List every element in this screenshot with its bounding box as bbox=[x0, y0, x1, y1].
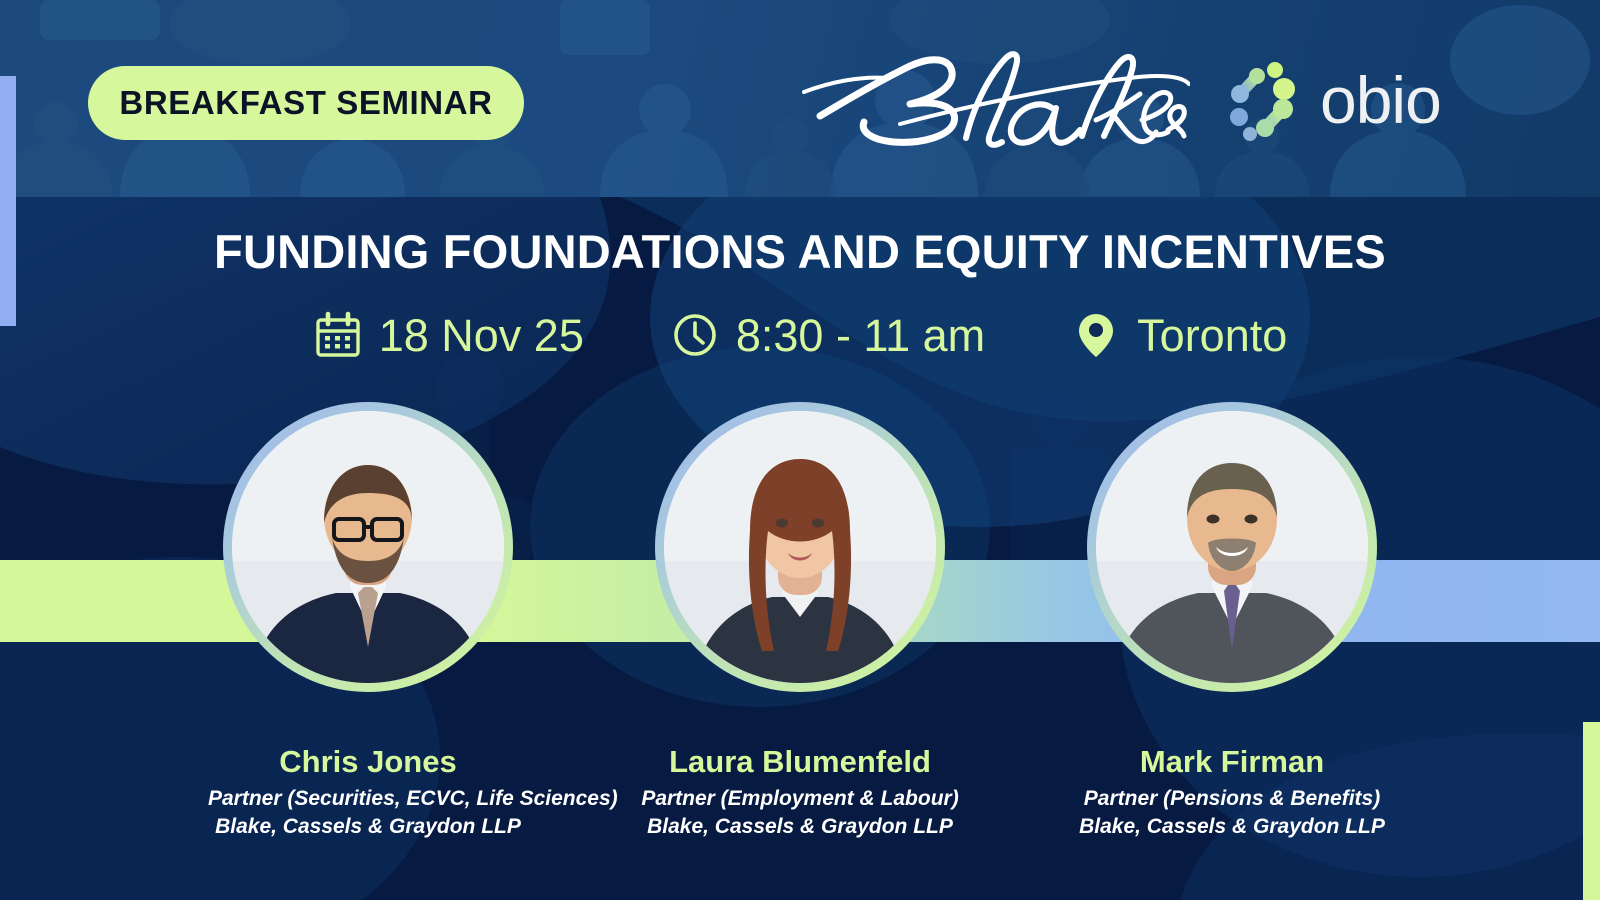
location-pin-icon bbox=[1071, 310, 1121, 360]
right-accent-bar bbox=[1583, 722, 1600, 900]
obio-wordmark: obio bbox=[1320, 67, 1441, 133]
speakers-row: Chris Jones Partner (Securities, ECVC, L… bbox=[0, 402, 1600, 841]
badge-label: BREAKFAST SEMINAR bbox=[119, 84, 492, 122]
event-time: 8:30 - 11 am bbox=[670, 310, 985, 360]
speaker-role: Partner (Pensions & Benefits) bbox=[1072, 785, 1392, 813]
speaker-portrait-ring bbox=[655, 402, 945, 692]
clock-icon bbox=[670, 310, 720, 360]
speaker-photo-laura-blumenfeld bbox=[664, 411, 936, 683]
page-title: FUNDING FOUNDATIONS AND EQUITY INCENTIVE… bbox=[0, 224, 1600, 279]
blakes-logo bbox=[790, 38, 1190, 158]
left-accent-bar bbox=[0, 76, 16, 326]
speaker-role: Partner (Employment & Labour) bbox=[640, 785, 960, 813]
event-date-label: 18 Nov 25 bbox=[379, 313, 584, 358]
speaker-portrait bbox=[664, 411, 936, 683]
event-details-row: 18 Nov 25 8:30 - 11 am Toronto bbox=[0, 310, 1600, 360]
obio-logo: obio bbox=[1222, 52, 1522, 148]
event-location-label: Toronto bbox=[1137, 313, 1287, 358]
speaker-card: Laura Blumenfeld Partner (Employment & L… bbox=[640, 402, 960, 841]
speaker-firm: Blake, Cassels & Graydon LLP bbox=[1072, 813, 1392, 841]
speaker-card: Chris Jones Partner (Securities, ECVC, L… bbox=[208, 402, 528, 841]
speaker-portrait bbox=[1096, 411, 1368, 683]
speaker-card: Mark Firman Partner (Pensions & Benefits… bbox=[1072, 402, 1392, 841]
speaker-name: Chris Jones bbox=[208, 745, 528, 779]
event-location: Toronto bbox=[1071, 310, 1287, 360]
speaker-portrait-ring bbox=[223, 402, 513, 692]
speaker-firm: Blake, Cassels & Graydon LLP bbox=[208, 813, 528, 841]
calendar-icon bbox=[313, 310, 363, 360]
speaker-firm: Blake, Cassels & Graydon LLP bbox=[640, 813, 960, 841]
speaker-role: Partner (Securities, ECVC, Life Sciences… bbox=[208, 785, 528, 813]
event-date: 18 Nov 25 bbox=[313, 310, 584, 360]
event-time-label: 8:30 - 11 am bbox=[736, 313, 985, 358]
speaker-photo-mark-firman bbox=[1096, 411, 1368, 683]
speaker-portrait bbox=[232, 411, 504, 683]
speaker-name: Laura Blumenfeld bbox=[640, 745, 960, 779]
blakes-wordmark-icon bbox=[790, 38, 1190, 158]
event-poster: BREAKFAST SEMINAR bbox=[0, 0, 1600, 900]
speaker-name: Mark Firman bbox=[1072, 745, 1392, 779]
speaker-photo-chris-jones bbox=[232, 411, 504, 683]
obio-dots-mark-icon bbox=[1222, 55, 1312, 145]
breakfast-seminar-badge: BREAKFAST SEMINAR bbox=[88, 66, 524, 140]
speaker-portrait-ring bbox=[1087, 402, 1377, 692]
